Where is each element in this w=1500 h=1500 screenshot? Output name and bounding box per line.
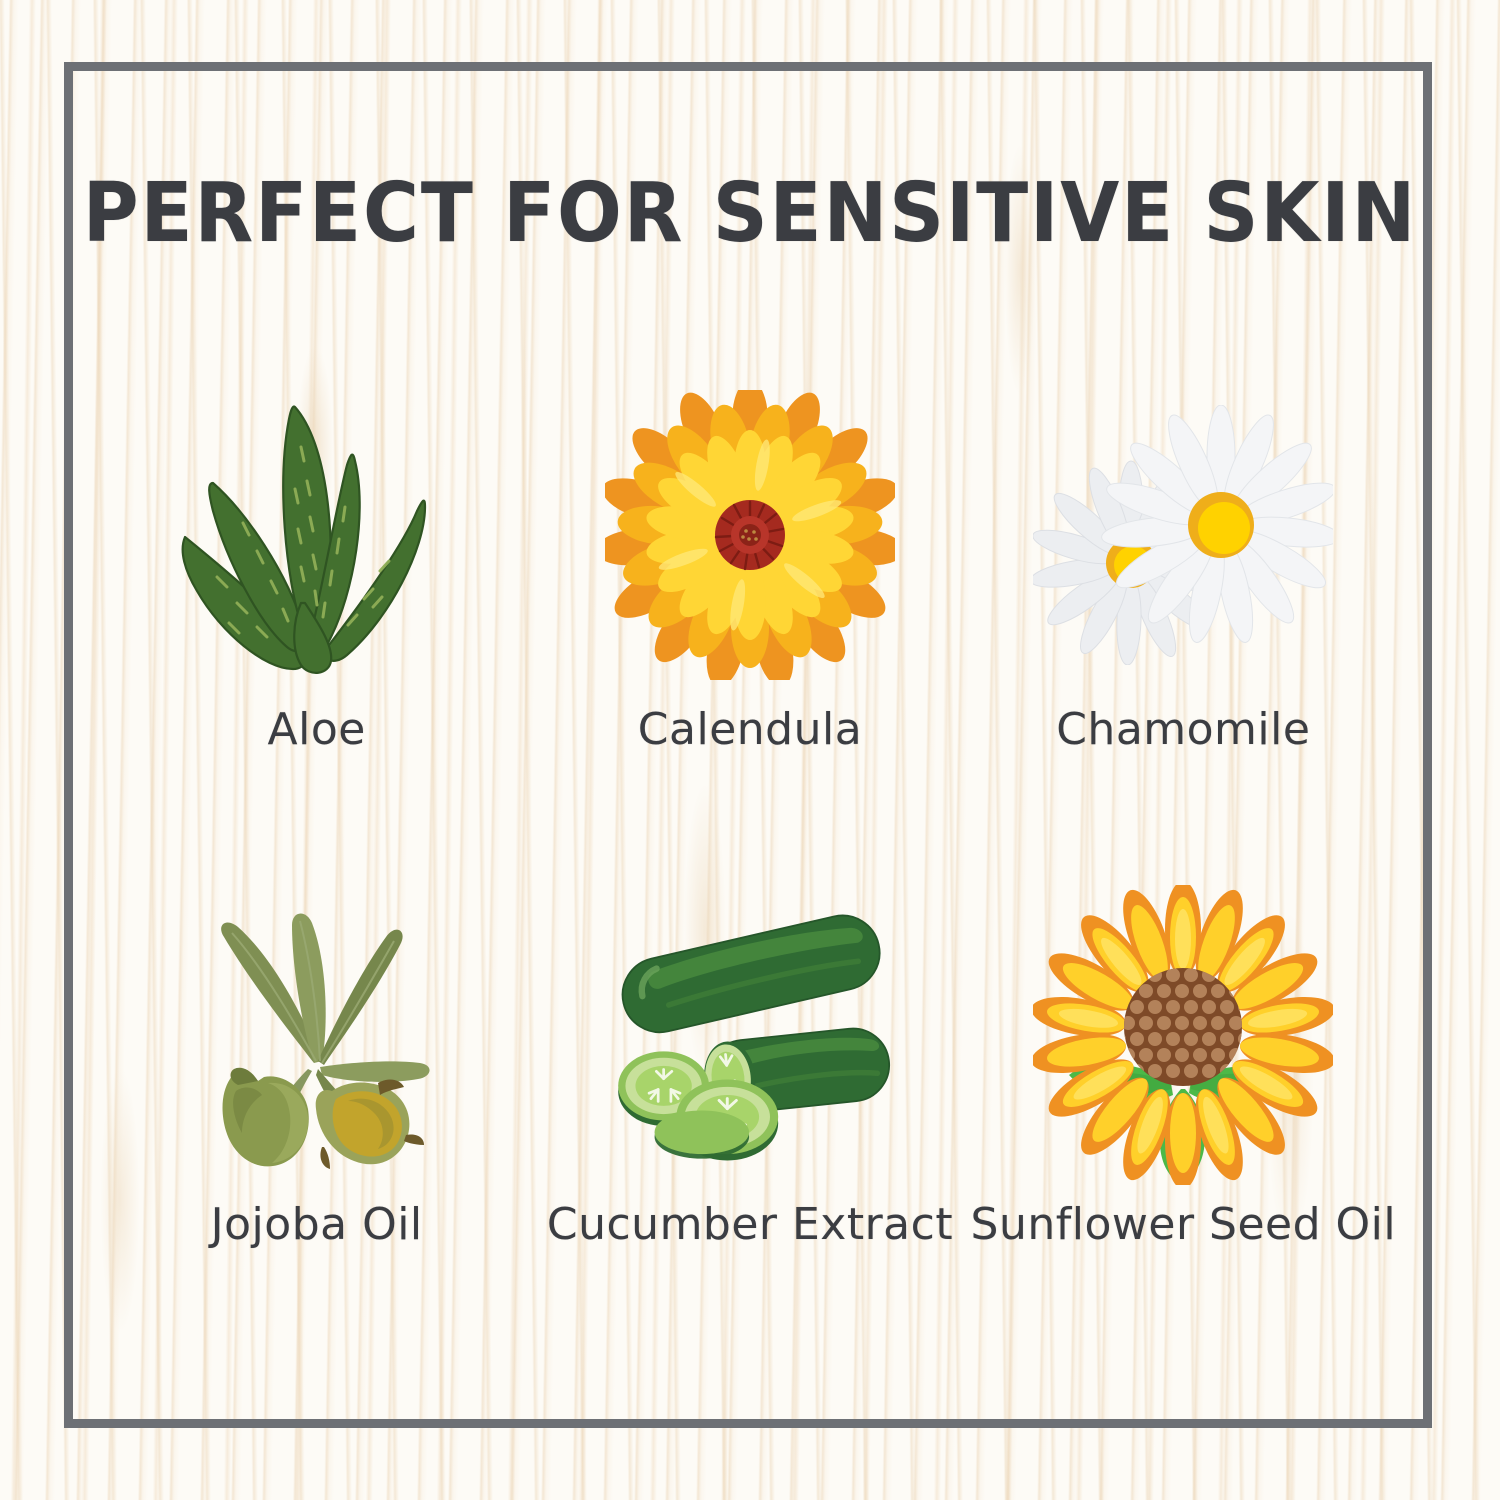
- calendula-flower-icon: [600, 370, 900, 700]
- ingredient-card-calendula[interactable]: Calendula: [533, 370, 966, 865]
- ingredient-card-sunflower-seed-oil[interactable]: Sunflower Seed Oil: [967, 865, 1400, 1360]
- ingredient-card-jojoba-oil[interactable]: Jojoba Oil: [100, 865, 533, 1360]
- ingredient-label: Jojoba Oil: [211, 1199, 423, 1250]
- ingredient-grid: Aloe: [100, 370, 1400, 1360]
- ingredient-label: Chamomile: [1056, 704, 1310, 755]
- jojoba-seed-icon: [167, 865, 467, 1205]
- sunflower-icon: [1033, 865, 1333, 1205]
- ingredient-label: Sunflower Seed Oil: [971, 1199, 1397, 1250]
- ingredient-label: Calendula: [638, 704, 862, 755]
- ingredient-card-chamomile[interactable]: Chamomile: [967, 370, 1400, 865]
- ingredient-card-cucumber-extract[interactable]: Cucumber Extract: [533, 865, 966, 1360]
- ingredient-label: Cucumber Extract: [547, 1199, 953, 1250]
- chamomile-daisy-icon: [1033, 370, 1333, 700]
- aloe-plant-icon: [167, 370, 467, 700]
- poster-canvas: PERFECT FOR SENSITIVE SKIN: [0, 0, 1500, 1500]
- ingredient-label: Aloe: [268, 704, 366, 755]
- cucumber-icon: [600, 865, 900, 1205]
- page-title: PERFECT FOR SENSITIVE SKIN: [53, 166, 1448, 261]
- ingredient-card-aloe[interactable]: Aloe: [100, 370, 533, 865]
